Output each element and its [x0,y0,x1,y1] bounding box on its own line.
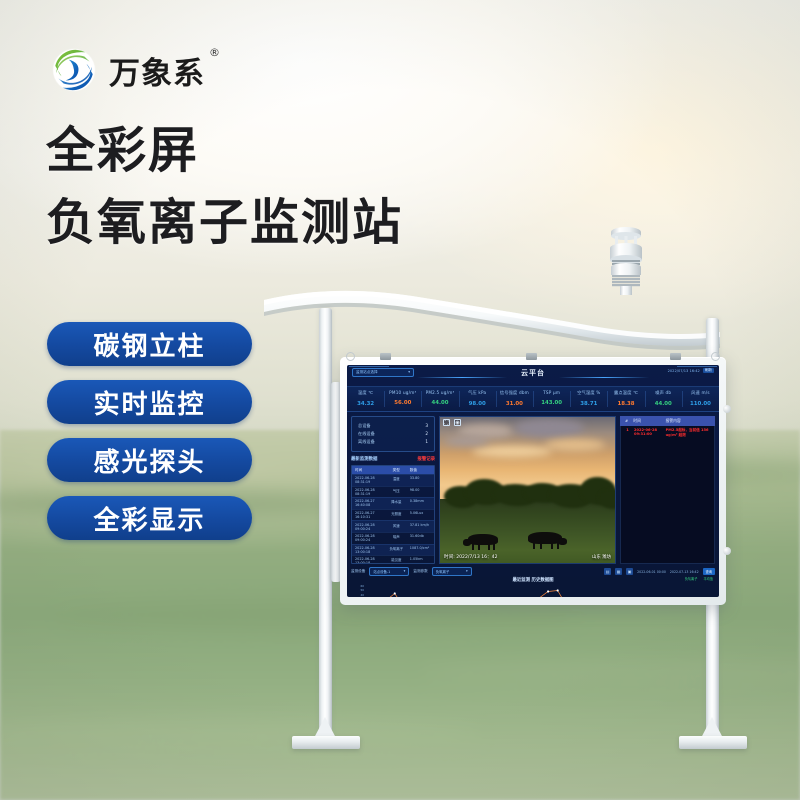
y-axis-ticks: 6050403020100 [351,584,365,597]
mounting-base-plate-left [292,736,360,749]
stat-value: 2 [425,431,428,437]
alarm-panel: # 时间 报警内容 1 2022-06-28 09:31:00 PM2.5超标，… [620,416,715,564]
chart-legend: 负氧离子 平均值 [685,576,713,581]
param-filter-value: 负氧离子 [436,569,450,574]
chart-title: 最近监测 历史数据图 [351,577,715,583]
metric-value: 44.00 [645,401,682,407]
device-filter-label: 监测设备 [351,569,365,574]
stat-online-devices: 在线设备 2 [358,431,428,437]
table-row[interactable]: 2022-06-28 13:00:18负氧离子1087.0/cm³ [352,544,434,556]
table-cell: 风速 [385,523,408,531]
table-cell: 37.81 km/h [408,523,434,531]
site-select-dropdown[interactable]: 监测站点选择 ▾ [352,368,414,377]
side-knob-top[interactable] [723,405,731,413]
metric-value: 34.32 [347,401,384,407]
metric-pressure: 气压 kPa 98.00 [459,387,496,411]
metric-signal: 信号强度 dbm 31.00 [496,387,533,411]
refresh-button[interactable]: 刷新 [703,368,714,373]
side-knob-bottom[interactable] [723,547,731,555]
metric-tsp: TSP µm 143.00 [533,387,570,411]
alarm-column-index: # [620,418,633,424]
table-header-row: 时间 类型 数值 [352,466,434,474]
cow-leg [493,544,495,550]
device-filter-value: 站点设备-1 [373,569,390,574]
clock-text: 2022/07/13 16:42 [668,369,700,373]
table-cell: 2022-06-28 13:00:18 [352,557,385,564]
table-row[interactable]: 2022-06-27 16:10:31光照度5.06Lux [352,509,434,521]
cow-leg [551,543,553,549]
live-video-panel[interactable]: ⛶ ◉ 时间: 2022/7/13 16：42 山东 潍坊 [439,416,616,564]
metric-noise: 噪声 db 44.00 [645,387,682,411]
monitor-data-table: 时间 类型 数值 2022-06-28 08:31:19温度33.802022-… [351,465,435,564]
video-location: 山东 潍坊 [592,554,611,560]
legend-item-0: 负氧离子 [685,576,698,581]
video-timestamp: 时间: 2022/7/13 16：42 [444,554,498,560]
table-cell: 2022-06-28 08:31:19 [352,476,385,484]
metric-label: 露点温度 ℃ [607,390,644,396]
table-cell: 能见度 [385,557,408,564]
outdoor-lcd-monitor: 云平台 监测站点选择 ▾ 2022/07/13 16:42 刷新 温度 ℃ 34… [340,357,726,605]
table-cell: 31.60db [408,534,434,542]
table-cell: 降水量 [385,499,408,507]
table-row[interactable]: 2022-06-28 09:00:24风速37.81 km/h [352,520,434,532]
metric-label: 空气湿度 % [570,390,607,396]
metric-label: TSP µm [533,390,570,395]
stat-label: 离线设备 [358,439,375,445]
table-cell: 2022-06-27 16:40:08 [352,499,385,507]
table-cell: 33.80 [408,476,434,484]
bezel-clip-2 [526,353,537,360]
device-stats-box: 总设备 3 在线设备 2 离线设备 1 [351,416,435,452]
table-cell: 2022-06-28 09:00:24 [352,523,385,531]
query-button[interactable]: 查询 [703,568,715,575]
bezel-clip-1 [380,353,391,360]
site-select-value: 监测站点选择 [356,369,378,376]
table-cell: 2022-06-27 16:10:31 [352,511,385,519]
base-gusset-right [701,717,723,738]
metric-label: 气压 kPa [459,390,496,396]
stat-label: 总设备 [358,423,371,429]
cloud [444,436,489,446]
cow [528,532,562,544]
alarm-list: 1 2022-06-28 09:31:00 PM2.5超标，当前值 156 ug… [620,426,715,564]
table-cell: 噪声 [385,534,408,542]
chevron-down-icon: ▾ [408,369,410,376]
table-view-icon[interactable]: ▤ [604,568,611,575]
alarm-index: 1 [621,428,634,438]
camera-feed[interactable]: ⛶ ◉ 时间: 2022/7/13 16：42 山东 潍坊 [439,416,616,564]
data-table-title: 最新监测数据 [351,456,377,462]
stat-value: 1 [425,439,428,445]
table-cell: 温度 [385,476,408,484]
table-cell: 1087.0/cm³ [408,546,434,554]
stat-label: 在线设备 [358,431,375,437]
history-chart-panel: 监测设备 站点设备-1 ▾ 监测参数 负氧离子 ▾ ▤ ▦ ▣ 2022-06-… [351,567,715,597]
alarm-column-content: 报警内容 [666,418,715,424]
metric-value: 18.38 [607,401,644,407]
cow-leg [472,544,474,550]
table-cell: 2022-06-28 13:00:18 [352,546,385,554]
bezel-ring-right [711,352,720,361]
table-cell: 5.06Lux [408,511,434,519]
table-body: 2022-06-28 08:31:19温度33.802022-06-28 08:… [352,474,434,564]
calendar-icon[interactable]: ▣ [626,568,633,575]
table-cell: 光照度 [385,511,408,519]
monitoring-station-product: 云平台 监测站点选择 ▾ 2022/07/13 16:42 刷新 温度 ℃ 34… [0,0,800,800]
snapshot-icon[interactable]: ◉ [454,419,461,426]
metric-strip: 温度 ℃ 34.32 PM10 ug/m³ 56.00 PM2.5 ug/m³ … [347,386,719,412]
alarm-column-time: 时间 [633,418,665,424]
chart-line-svg [366,584,711,597]
metric-value: 143.00 [533,400,570,406]
stat-total-devices: 总设备 3 [358,423,428,429]
metric-label: 噪声 db [645,390,682,396]
alarm-time: 2022-06-28 09:31:00 [634,428,666,438]
table-cell: 2022-06-28 08:31:19 [352,488,385,496]
metric-humidity: 空气湿度 % 38.71 [570,387,607,411]
metric-value: 31.00 [496,401,533,407]
table-cell: 1.05km [408,557,434,564]
param-filter-select[interactable]: 负氧离子 ▾ [432,567,472,576]
cloud [472,446,552,457]
metric-label: 信号强度 dbm [496,390,533,396]
cow-leg [533,543,535,549]
left-panel: 总设备 3 在线设备 2 离线设备 1 最新监测数据 [351,416,435,564]
cow-leg [488,544,490,550]
fullscreen-icon[interactable]: ⛶ [443,419,450,426]
chevron-down-icon: ▾ [404,569,406,574]
table-row[interactable]: 2022-06-28 08:31:19温度33.80 [352,474,434,486]
device-filter-select[interactable]: 站点设备-1 ▾ [369,567,409,576]
param-filter-label: 监测参数 [413,569,427,574]
metric-value: 44.00 [421,400,458,406]
metric-pm25: PM2.5 ug/m³ 44.00 [421,387,458,411]
table-cell: 98.00 [408,488,434,496]
metric-label: PM2.5 ug/m³ [421,390,458,395]
table-row[interactable]: 2022-06-28 08:31:19气压98.00 [352,486,434,498]
clock-area: 2022/07/13 16:42 刷新 [668,368,714,373]
metric-temperature: 温度 ℃ 34.32 [347,387,384,411]
metric-value: 110.00 [682,401,719,407]
table-cell: 负氧离子 [385,546,408,554]
video-controls[interactable]: ⛶ ◉ [443,419,461,426]
chevron-down-icon: ▾ [466,569,468,574]
metric-value: 38.71 [570,401,607,407]
dashboard-screen: 云平台 监测站点选择 ▾ 2022/07/13 16:42 刷新 温度 ℃ 34… [347,365,719,597]
table-row[interactable]: 2022-06-28 09:00:24噪声31.60db [352,532,434,544]
alert-records-link[interactable]: 报警记录 [417,456,435,462]
bezel-ring-left [346,352,355,361]
stat-value: 3 [425,423,428,429]
table-cell: 2022-06-28 09:00:24 [352,534,385,542]
column-header-value: 数值 [408,468,434,473]
alarm-row: 1 2022-06-28 09:31:00 PM2.5超标，当前值 156 ug… [621,426,714,440]
cloud [514,419,584,437]
end-date-field[interactable]: 2022-07-13 16:42 [670,570,699,574]
start-date-field[interactable]: 2022-06-01 00:00 [637,570,666,574]
legend-item-1: 平均值 [703,576,713,581]
column-header-type: 类型 [385,468,408,473]
metric-label: PM10 ug/m³ [384,390,421,395]
cloud [545,439,605,451]
metric-pm10: PM10 ug/m³ 56.00 [384,387,421,411]
column-header-time: 时间 [352,468,385,473]
metric-value: 98.00 [459,401,496,407]
chart-control-bar: 监测设备 站点设备-1 ▾ 监测参数 负氧离子 ▾ ▤ ▦ ▣ 2022-06-… [351,567,715,576]
stat-offline-devices: 离线设备 1 [358,439,428,445]
bezel-clip-3 [670,353,681,360]
data-table-header-bar: 最新监测数据 报警记录 [351,456,435,462]
dashboard-body: 总设备 3 在线设备 2 离线设备 1 最新监测数据 [347,412,719,564]
cow [468,534,498,545]
table-cell: 气压 [385,488,408,496]
chart-plot-area: 6050403020100 06-0106-0206-0306-0406-050… [351,584,715,597]
alarm-header-row: # 时间 报警内容 [620,416,715,426]
alarm-content: PM2.5超标，当前值 156 ug/m³ 超限 [666,428,714,438]
dashboard-header: 云平台 监测站点选择 ▾ 2022/07/13 16:42 刷新 [347,365,719,386]
metric-label: 温度 ℃ [347,390,384,396]
table-row[interactable]: 2022-06-27 16:40:08降水量0.38mm [352,497,434,509]
mounting-base-plate-right [679,736,747,749]
base-gusset-left [314,717,336,738]
table-row[interactable]: 2022-06-28 13:00:18能见度1.05km [352,555,434,564]
cow-head [558,538,567,545]
metric-dewpoint: 露点温度 ℃ 18.38 [607,387,644,411]
metric-value: 56.00 [384,400,421,406]
cow-leg [478,544,480,550]
table-cell: 0.38mm [408,499,434,507]
metric-label: 风速 m/s [682,390,719,396]
metric-windspeed: 风速 m/s 110.00 [682,387,719,411]
cow-leg [540,543,542,549]
chart-view-icon[interactable]: ▦ [615,568,622,575]
